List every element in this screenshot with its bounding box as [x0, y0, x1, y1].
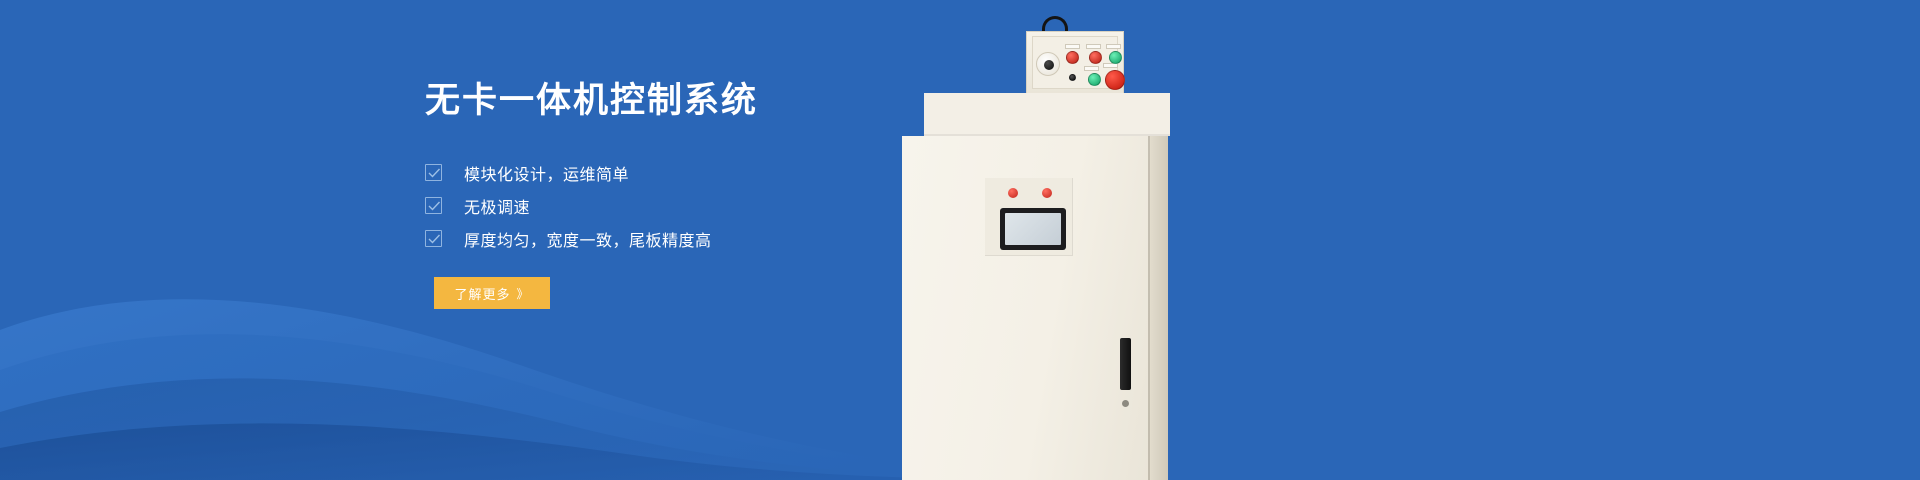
- chevron-right-icon: 》: [517, 285, 530, 302]
- cabinet-lock[interactable]: [1122, 400, 1129, 407]
- button-label-plate: [1086, 44, 1101, 49]
- cabinet-door-handle[interactable]: [1120, 338, 1131, 390]
- product-image: [900, 0, 1320, 480]
- checkbox-icon: [425, 230, 442, 247]
- button-label-plate: [1084, 66, 1099, 71]
- indicator-button-2[interactable]: [1089, 51, 1102, 64]
- rotary-selector-knob[interactable]: [1036, 52, 1060, 76]
- indicator-button-1[interactable]: [1066, 51, 1079, 64]
- indicator-button-3[interactable]: [1109, 51, 1122, 64]
- checkbox-icon: [425, 164, 442, 181]
- touch-screen-panel[interactable]: [1000, 208, 1066, 250]
- emergency-stop-button[interactable]: [1105, 70, 1125, 90]
- touch-screen-display: [1005, 213, 1061, 245]
- cabinet-side: [1150, 136, 1168, 480]
- hero-banner: 无卡一体机控制系统 模块化设计，运维简单 无极调速: [0, 0, 1920, 480]
- start-button[interactable]: [1088, 73, 1101, 86]
- button-label-plate: [1065, 44, 1080, 49]
- power-cable: [1042, 16, 1068, 32]
- button-label-plate: [1106, 44, 1121, 49]
- feature-label: 厚度均匀，宽度一致，尾板精度高: [464, 227, 712, 251]
- cabinet-top-lip: [924, 93, 1170, 136]
- feature-label: 模块化设计，运维简单: [464, 161, 629, 185]
- feature-label: 无极调速: [464, 194, 530, 218]
- status-light-1: [1008, 188, 1018, 198]
- cabinet-door-seam: [1148, 136, 1150, 480]
- status-light-2: [1042, 188, 1052, 198]
- small-black-button[interactable]: [1069, 74, 1076, 81]
- learn-more-button[interactable]: 了解更多 》: [434, 277, 550, 309]
- checkbox-icon: [425, 197, 442, 214]
- learn-more-label: 了解更多: [454, 284, 510, 303]
